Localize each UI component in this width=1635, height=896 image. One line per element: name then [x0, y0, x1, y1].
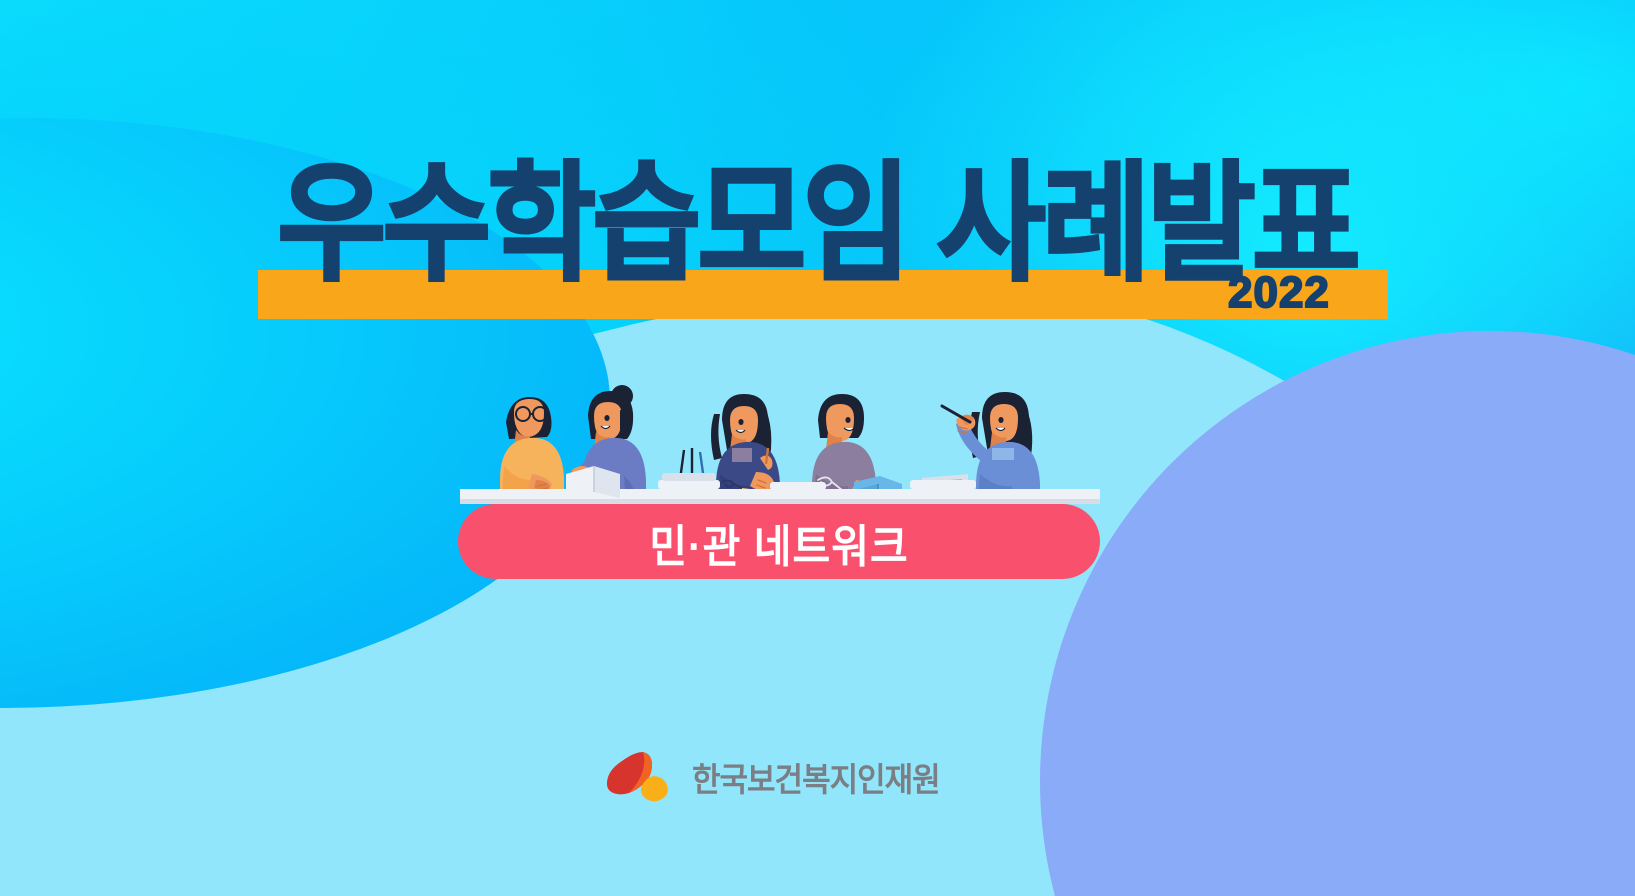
footer-logo: 한국보건복지인재원 [604, 748, 940, 804]
organization-name: 한국보건복지인재원 [692, 752, 940, 800]
poster-canvas: 우수학습모임 사례발표 2022 [0, 0, 1635, 896]
theme-label: 민·관 네트워크 [649, 509, 908, 575]
prop-table [450, 489, 1110, 504]
page-title: 우수학습모임 사례발표 [0, 160, 1635, 289]
theme-badge: 민·관 네트워크 [458, 504, 1100, 579]
periwinkle-circle-shape [1040, 331, 1635, 896]
title-block: 우수학습모임 사례발표 2022 [0, 0, 1635, 330]
study-group-illustration [470, 370, 1090, 510]
year-badge: 2022 [1228, 268, 1330, 318]
institute-logo-icon [604, 748, 676, 804]
